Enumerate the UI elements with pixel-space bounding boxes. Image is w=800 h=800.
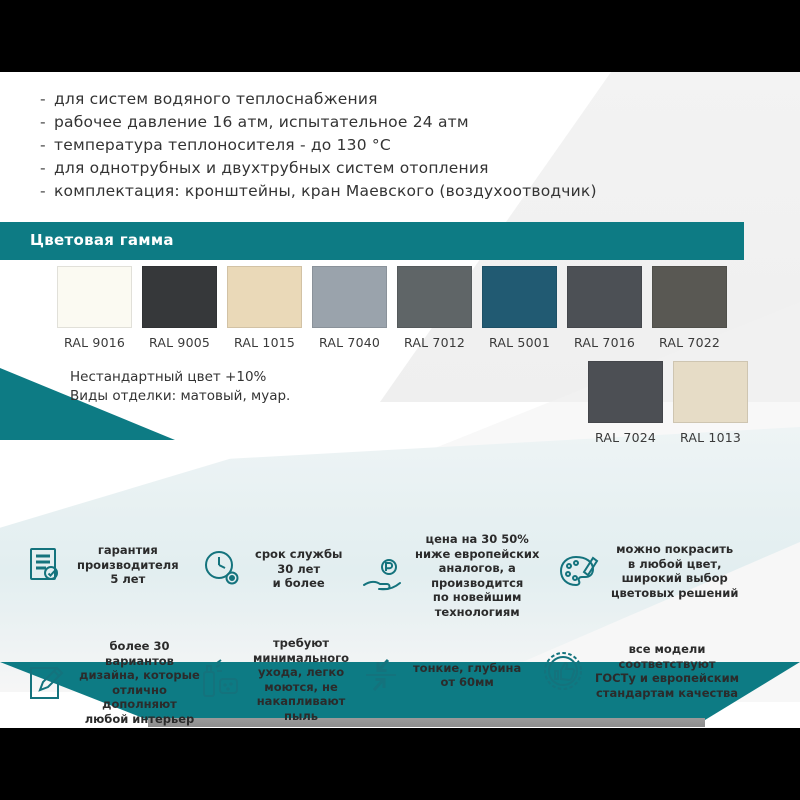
color-swatch-label: RAL 5001 [482, 335, 557, 350]
color-swatch-label: RAL 7016 [567, 335, 642, 350]
color-note-line: Нестандартный цвет +10% [70, 368, 290, 387]
feature-label: срок службы 30 лет и более [255, 547, 342, 591]
color-swatch-label: RAL 7022 [652, 335, 727, 350]
color-swatch: RAL 7024 [588, 361, 663, 445]
bullet-dash-icon: - [40, 134, 54, 157]
depth-arrows-icon [358, 652, 404, 698]
thumbs-up-badge-icon [540, 648, 586, 694]
list-item: - комплектация: кронштейны, кран Маевско… [40, 180, 660, 203]
bullet-dash-icon: - [40, 88, 54, 111]
color-swatch-chip [57, 266, 132, 328]
color-swatch-label: RAL 7012 [397, 335, 472, 350]
slide-page: - для систем водяного теплоснабжения - р… [0, 0, 800, 800]
feature-label: цена на 30 50% ниже европейских аналогов… [415, 532, 539, 619]
list-item-label: рабочее давление 16 атм, испытательное 2… [54, 111, 469, 134]
clock-gear-icon [200, 546, 246, 592]
bullet-dash-icon: - [40, 180, 54, 203]
feature-item-price: цена на 30 50% ниже европейских аналогов… [360, 532, 550, 619]
slide-canvas: - для систем водяного теплоснабжения - р… [0, 72, 800, 728]
bullet-dash-icon: - [40, 157, 54, 180]
hand-ruble-icon [360, 553, 406, 599]
list-item-label: температура теплоносителя - до 130 °C [54, 134, 391, 157]
palette-brush-icon [556, 548, 602, 594]
color-note-line: Виды отделки: матовый, муар. [70, 387, 290, 406]
list-item-label: комплектация: кронштейны, кран Маевского… [54, 180, 597, 203]
feature-grid: гарантия производителя 5 лет срок службы… [0, 464, 800, 684]
pencil-design-icon [22, 660, 68, 706]
list-item: - для однотрубных и двухтрубных систем о… [40, 157, 660, 180]
color-swatch-chip [312, 266, 387, 328]
color-swatch-chip [142, 266, 217, 328]
feature-label: тонкие, глубина от 60мм [413, 661, 521, 690]
bullet-dash-icon: - [40, 111, 54, 134]
color-swatch-chip [567, 266, 642, 328]
color-swatch: RAL 5001 [482, 266, 557, 350]
letterbox-top-bar [0, 0, 800, 72]
color-swatch-label: RAL 1013 [673, 430, 748, 445]
color-swatch-chip [482, 266, 557, 328]
letterbox-bottom-bar [0, 728, 800, 800]
color-swatch-chip [652, 266, 727, 328]
color-swatch: RAL 7040 [312, 266, 387, 350]
feature-label: можно покрасить в любой цвет, широкий вы… [611, 542, 738, 600]
color-notes: Нестандартный цвет +10% Виды отделки: ма… [70, 368, 290, 406]
feature-label: более 30 вариантов дизайна, которые отли… [77, 639, 202, 726]
feature-label: требуют минимального ухода, легко моются… [253, 636, 349, 723]
color-swatch-chip [673, 361, 748, 423]
color-swatch-label: RAL 7040 [312, 335, 387, 350]
feature-item-lifespan: срок службы 30 лет и более [200, 546, 368, 592]
color-swatch: RAL 9016 [57, 266, 132, 350]
color-swatch: RAL 7016 [567, 266, 642, 350]
list-item: - температура теплоносителя - до 130 °C [40, 134, 660, 157]
color-swatch-label: RAL 9016 [57, 335, 132, 350]
feature-item-warranty: гарантия производителя 5 лет [22, 542, 200, 588]
color-swatch: RAL 1013 [673, 361, 748, 445]
color-swatch: RAL 1015 [227, 266, 302, 350]
feature-item-standards: все модели соответствуют ГОСТу и европей… [540, 642, 780, 700]
feature-item-designs: более 30 вариантов дизайна, которые отли… [22, 639, 202, 726]
feature-item-depth: тонкие, глубина от 60мм [358, 652, 543, 698]
list-item-label: для однотрубных и двухтрубных систем ото… [54, 157, 489, 180]
color-swatch-label: RAL 7024 [588, 430, 663, 445]
feature-label: гарантия производителя 5 лет [77, 543, 179, 587]
color-swatch: RAL 7022 [652, 266, 727, 350]
spray-clean-icon [198, 657, 244, 703]
list-item: - для систем водяного теплоснабжения [40, 88, 660, 111]
color-swatch-label: RAL 1015 [227, 335, 302, 350]
feature-item-paintable: можно покрасить в любой цвет, широкий вы… [556, 542, 776, 600]
swatch-row-primary: RAL 9016RAL 9005RAL 1015RAL 7040RAL 7012… [57, 266, 737, 350]
swatch-row-secondary: RAL 7024RAL 1013 [588, 361, 758, 445]
list-item: - рабочее давление 16 атм, испытательное… [40, 111, 660, 134]
list-item-label: для систем водяного теплоснабжения [54, 88, 378, 111]
color-range-band: Цветовая гамма [0, 222, 744, 260]
color-swatch-chip [397, 266, 472, 328]
certificate-icon [22, 542, 68, 588]
color-range-title: Цветовая гамма [30, 231, 174, 249]
color-swatch: RAL 7012 [397, 266, 472, 350]
color-swatch: RAL 9005 [142, 266, 217, 350]
color-swatch-label: RAL 9005 [142, 335, 217, 350]
feature-label: все модели соответствуют ГОСТу и европей… [595, 642, 739, 700]
feature-item-maintenance: требуют минимального ухода, легко моются… [198, 636, 363, 723]
specification-list: - для систем водяного теплоснабжения - р… [40, 88, 660, 203]
color-swatch-chip [588, 361, 663, 423]
color-swatch-chip [227, 266, 302, 328]
